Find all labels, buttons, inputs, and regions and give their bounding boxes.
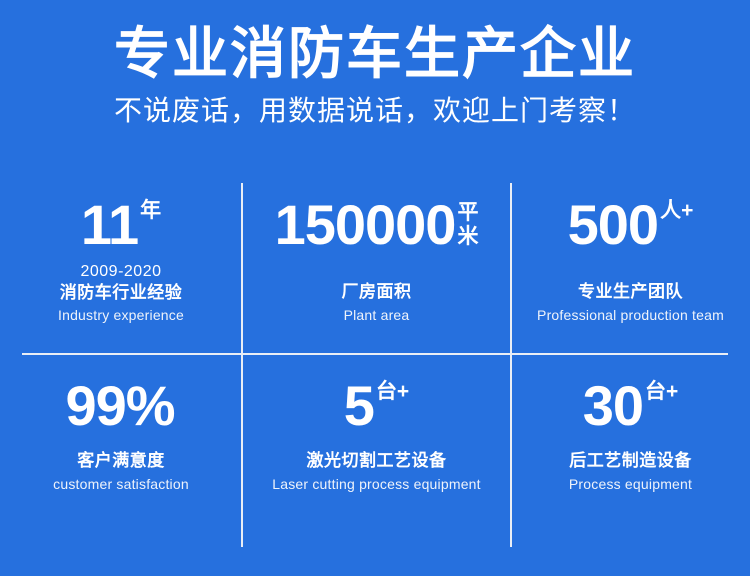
stat-number: 30 <box>583 378 643 434</box>
stat-label-block: 厂房面积 Plant area <box>342 282 412 324</box>
stat-unit: 台+ <box>645 381 678 402</box>
stat-label-cn: 专业生产团队 <box>537 282 724 302</box>
stat-label-en: Process equipment <box>569 475 692 493</box>
stat-label-block: 专业生产团队 Professional production team <box>537 282 724 324</box>
stat-value: 500 人+ <box>568 197 694 253</box>
stat-unit: 平 米 <box>457 201 478 248</box>
stat-value: 5 台+ <box>344 378 409 434</box>
stat-label-en: Industry experience <box>58 306 184 324</box>
stat-label-cn: 后工艺制造设备 <box>569 451 692 471</box>
promotional-banner: 专业消防车生产企业 不说废话，用数据说话，欢迎上门考察！ 11 年 2009-2… <box>0 0 750 576</box>
stat-label-block: 后工艺制造设备 Process equipment <box>569 451 692 493</box>
stat-unit: 年 <box>140 200 161 221</box>
stat-cell-industry-experience: 11 年 2009-2020 消防车行业经验 Industry experien… <box>0 183 242 354</box>
stat-label-en: customer satisfaction <box>53 475 189 493</box>
stats-grid: 11 年 2009-2020 消防车行业经验 Industry experien… <box>0 183 750 547</box>
stat-cell-laser-cutting-equipment: 5 台+ 激光切割工艺设备 Laser cutting process equi… <box>242 354 511 547</box>
stat-cell-production-team: 500 人+ 专业生产团队 Professional production te… <box>511 183 750 354</box>
stat-number: 99% <box>65 378 174 434</box>
stat-unit-line-1: 平 <box>457 201 478 225</box>
banner-header: 专业消防车生产企业 不说废话，用数据说话，欢迎上门考察！ <box>0 0 750 128</box>
stat-range: 2009-2020 <box>58 263 184 281</box>
stat-label-en: Laser cutting process equipment <box>272 475 481 493</box>
stat-label-block: 客户满意度 customer satisfaction <box>53 451 189 493</box>
stat-cell-process-equipment: 30 台+ 后工艺制造设备 Process equipment <box>511 354 750 547</box>
stat-unit-line-2: 米 <box>457 225 478 249</box>
stat-unit: 台+ <box>376 381 409 402</box>
stat-number: 500 <box>568 197 658 253</box>
stat-cell-customer-satisfaction: 99% 客户满意度 customer satisfaction <box>0 354 242 547</box>
stat-label-cn: 消防车行业经验 <box>58 283 184 303</box>
stat-number: 150000 <box>275 197 456 253</box>
stat-label-cn: 厂房面积 <box>342 282 412 302</box>
stat-number: 5 <box>344 378 374 434</box>
stat-label-block: 2009-2020 消防车行业经验 Industry experience <box>58 253 184 324</box>
stat-value: 150000 平 米 <box>275 197 479 253</box>
page-title: 专业消防车生产企业 <box>0 0 750 84</box>
stat-label-block: 激光切割工艺设备 Laser cutting process equipment <box>272 451 481 493</box>
stat-label-en: Professional production team <box>537 306 724 324</box>
stat-cell-plant-area: 150000 平 米 厂房面积 Plant area <box>242 183 511 354</box>
stat-number: 11 <box>81 197 138 253</box>
stat-unit: 人+ <box>660 200 693 221</box>
stat-label-cn: 激光切割工艺设备 <box>272 451 481 471</box>
stat-value: 30 台+ <box>583 378 679 434</box>
stat-label-cn: 客户满意度 <box>53 451 189 471</box>
stat-label-en: Plant area <box>342 306 412 324</box>
stat-value: 99% <box>65 378 176 434</box>
stat-value: 11 年 <box>81 197 161 253</box>
page-subtitle: 不说废话，用数据说话，欢迎上门考察！ <box>0 84 750 128</box>
